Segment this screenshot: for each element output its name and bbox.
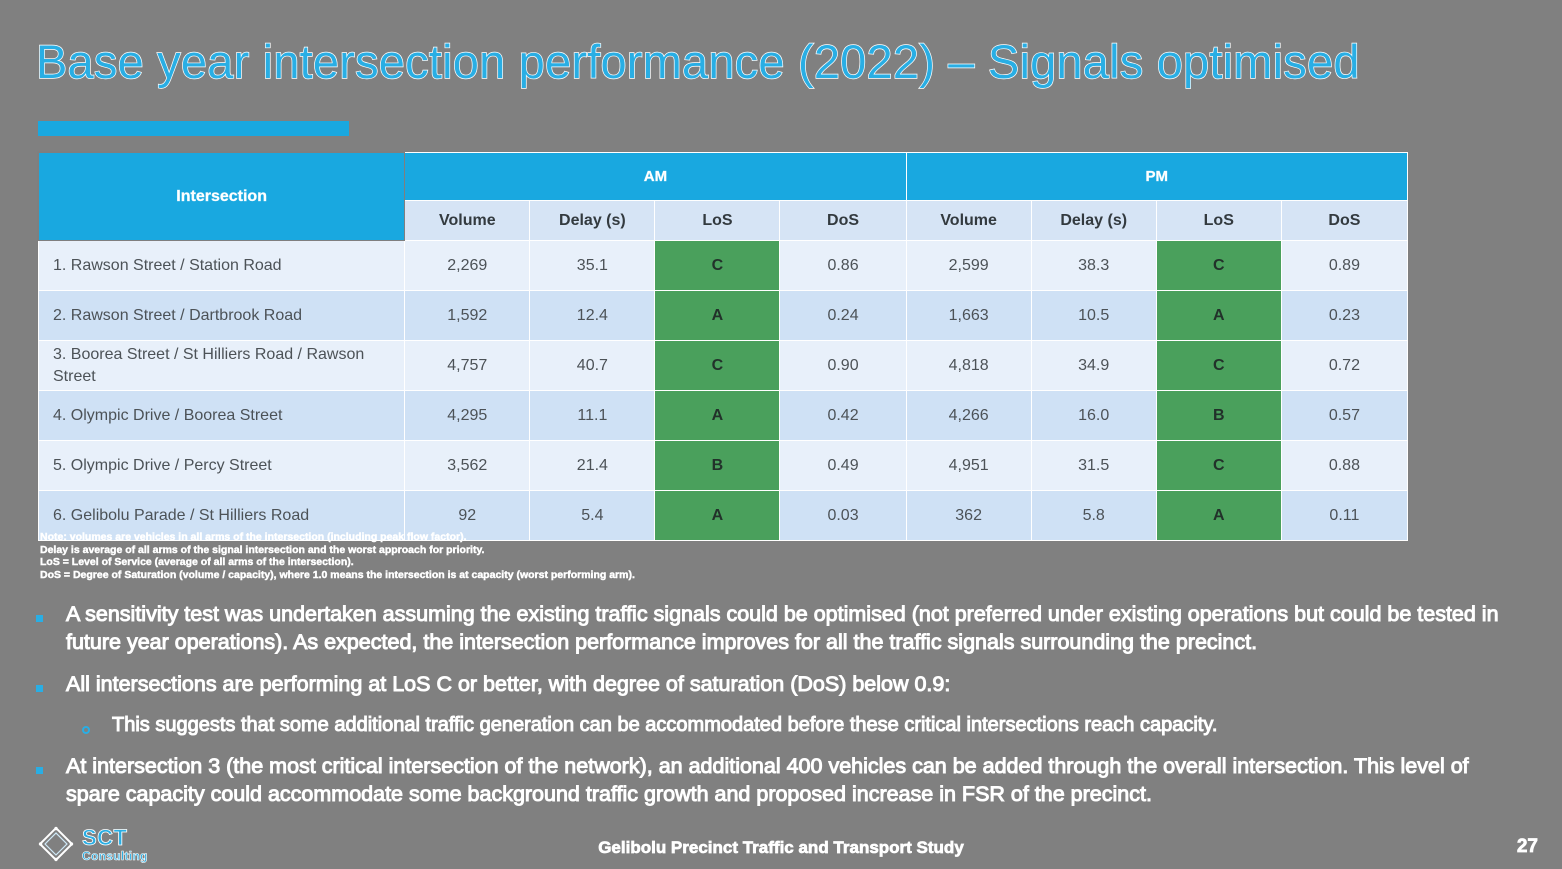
title-accent-bar <box>38 121 349 136</box>
cell-intersection-name: 4. Olympic Drive / Boorea Street <box>39 391 405 441</box>
table-row: 4. Olympic Drive / Boorea Street 4,295 1… <box>39 391 1408 441</box>
cell-pm-dos: 0.23 <box>1281 291 1407 341</box>
bullet-ring-icon <box>82 712 112 739</box>
cell-pm-los: C <box>1156 441 1281 491</box>
table-row: 3. Boorea Street / St Hilliers Road / Ra… <box>39 341 1408 391</box>
cell-am-delay: 40.7 <box>530 341 655 391</box>
table-head: Intersection AM PM Volume Delay (s) LoS … <box>39 153 1408 241</box>
cell-am-volume: 4,295 <box>405 391 530 441</box>
cell-am-delay: 21.4 <box>530 441 655 491</box>
cell-am-los: A <box>655 291 780 341</box>
table-row: 2. Rawson Street / Dartbrook Road 1,592 … <box>39 291 1408 341</box>
cell-pm-dos: 0.88 <box>1281 441 1407 491</box>
header-am-los: LoS <box>655 201 780 241</box>
header-pm-volume: Volume <box>906 201 1031 241</box>
cell-am-delay: 11.1 <box>530 391 655 441</box>
bullet-item: All intersections are performing at LoS … <box>36 670 1526 698</box>
cell-pm-los: C <box>1156 241 1281 291</box>
cell-am-los: B <box>655 441 780 491</box>
header-pm-dos: DoS <box>1281 201 1407 241</box>
cell-pm-dos: 0.72 <box>1281 341 1407 391</box>
cell-am-dos: 0.90 <box>780 341 906 391</box>
cell-pm-volume: 4,818 <box>906 341 1031 391</box>
cell-pm-delay: 31.5 <box>1031 441 1156 491</box>
bullet-item: A sensitivity test was undertaken assumi… <box>36 600 1526 656</box>
table-header-row-periods: Intersection AM PM <box>39 153 1408 201</box>
cell-pm-volume: 4,266 <box>906 391 1031 441</box>
header-period-am: AM <box>405 153 906 201</box>
table-footnotes: Note: volumes are vehicles in all arms o… <box>40 531 940 581</box>
header-intersection: Intersection <box>39 153 405 241</box>
cell-pm-los: C <box>1156 341 1281 391</box>
cell-intersection-name: 3. Boorea Street / St Hilliers Road / Ra… <box>39 341 405 391</box>
cell-pm-dos: 0.57 <box>1281 391 1407 441</box>
bullet-square-icon <box>36 752 66 779</box>
header-am-delay: Delay (s) <box>530 201 655 241</box>
cell-am-los: C <box>655 341 780 391</box>
bullet-text: This suggests that some additional traff… <box>112 712 1526 738</box>
cell-am-los: A <box>655 391 780 441</box>
cell-pm-delay: 38.3 <box>1031 241 1156 291</box>
cell-pm-delay: 10.5 <box>1031 291 1156 341</box>
header-pm-los: LoS <box>1156 201 1281 241</box>
bullet-square-icon <box>36 600 66 627</box>
cell-am-volume: 2,269 <box>405 241 530 291</box>
cell-am-dos: 0.49 <box>780 441 906 491</box>
page-title: Base year intersection performance (2022… <box>36 33 1360 90</box>
cell-am-dos: 0.24 <box>780 291 906 341</box>
bullet-square-icon <box>36 670 66 697</box>
cell-am-dos: 0.42 <box>780 391 906 441</box>
intersection-performance-table-wrapper: Intersection AM PM Volume Delay (s) LoS … <box>38 152 1408 541</box>
footer-title: Gelibolu Precinct Traffic and Transport … <box>0 838 1562 858</box>
sub-bullet-item: This suggests that some additional traff… <box>82 712 1526 739</box>
header-pm-delay: Delay (s) <box>1031 201 1156 241</box>
cell-am-volume: 4,757 <box>405 341 530 391</box>
header-am-dos: DoS <box>780 201 906 241</box>
bullet-list: A sensitivity test was undertaken assumi… <box>36 600 1526 822</box>
cell-pm-dos: 0.89 <box>1281 241 1407 291</box>
footnote-line: Note: volumes are vehicles in all arms o… <box>40 531 940 544</box>
intersection-performance-table: Intersection AM PM Volume Delay (s) LoS … <box>38 152 1408 541</box>
footnote-line: LoS = Level of Service (average of all a… <box>40 556 940 569</box>
page-number: 27 <box>1517 836 1538 858</box>
cell-am-dos: 0.86 <box>780 241 906 291</box>
cell-am-delay: 35.1 <box>530 241 655 291</box>
cell-am-volume: 3,562 <box>405 441 530 491</box>
cell-pm-volume: 2,599 <box>906 241 1031 291</box>
cell-pm-los: A <box>1156 291 1281 341</box>
footnote-line: Delay is average of all arms of the sign… <box>40 544 940 557</box>
table-row: 5. Olympic Drive / Percy Street 3,562 21… <box>39 441 1408 491</box>
header-period-pm: PM <box>906 153 1407 201</box>
cell-intersection-name: 1. Rawson Street / Station Road <box>39 241 405 291</box>
bullet-text: A sensitivity test was undertaken assumi… <box>66 600 1526 656</box>
cell-pm-los: B <box>1156 391 1281 441</box>
cell-pm-dos: 0.11 <box>1281 491 1407 541</box>
table-row: 1. Rawson Street / Station Road 2,269 35… <box>39 241 1408 291</box>
cell-pm-delay: 34.9 <box>1031 341 1156 391</box>
cell-am-delay: 12.4 <box>530 291 655 341</box>
slide-canvas: Base year intersection performance (2022… <box>0 0 1562 867</box>
bullet-text: All intersections are performing at LoS … <box>66 670 1526 698</box>
cell-pm-delay: 5.8 <box>1031 491 1156 541</box>
bullet-text: At intersection 3 (the most critical int… <box>66 752 1526 808</box>
table-body: 1. Rawson Street / Station Road 2,269 35… <box>39 241 1408 541</box>
cell-am-volume: 1,592 <box>405 291 530 341</box>
header-am-volume: Volume <box>405 201 530 241</box>
cell-pm-delay: 16.0 <box>1031 391 1156 441</box>
cell-intersection-name: 5. Olympic Drive / Percy Street <box>39 441 405 491</box>
cell-intersection-name: 2. Rawson Street / Dartbrook Road <box>39 291 405 341</box>
cell-pm-los: A <box>1156 491 1281 541</box>
cell-am-los: C <box>655 241 780 291</box>
cell-pm-volume: 1,663 <box>906 291 1031 341</box>
cell-pm-volume: 4,951 <box>906 441 1031 491</box>
footnote-line: DoS = Degree of Saturation (volume / cap… <box>40 569 940 582</box>
bullet-item: At intersection 3 (the most critical int… <box>36 752 1526 808</box>
